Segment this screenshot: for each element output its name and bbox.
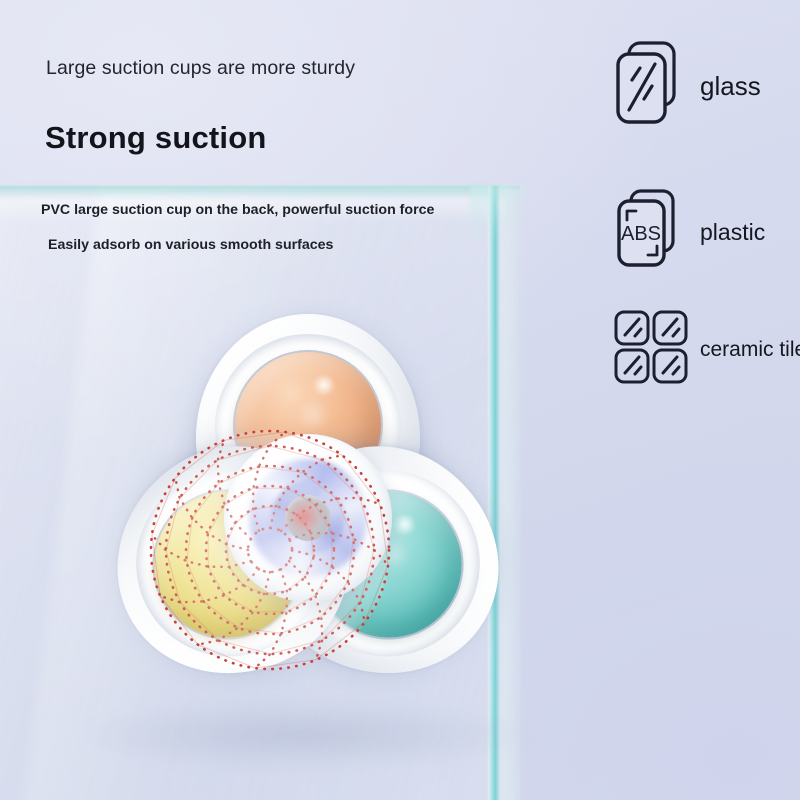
page-title: Strong suction [45,120,267,156]
glass-panes-icon [612,38,684,135]
suction-cup-spinner-toy [28,258,588,778]
description-line-1: PVC large suction cup on the back, power… [41,202,434,218]
material-label-glass: glass [700,71,761,102]
subheadline: Large suction cups are more sturdy [46,57,355,80]
product-marketing-image: Large suction cups are more sturdy Stron… [0,0,800,800]
glass-corner-highlight [470,186,526,246]
hub-red-accent [284,500,324,534]
abs-sheets-icon: ABS [612,186,686,279]
material-label-plastic: plastic [700,219,765,246]
abs-badge-text: ABS [621,223,661,245]
material-item-ceramic-tile: ceramic tile [612,308,800,391]
material-label-ceramic-tile: ceramic tile [700,338,800,362]
description-line-2: Easily adsorb on various smooth surfaces [48,237,333,253]
material-item-glass: glass [612,38,761,135]
material-item-plastic: ABS plastic [612,186,765,279]
tile-grid-icon [612,308,690,391]
